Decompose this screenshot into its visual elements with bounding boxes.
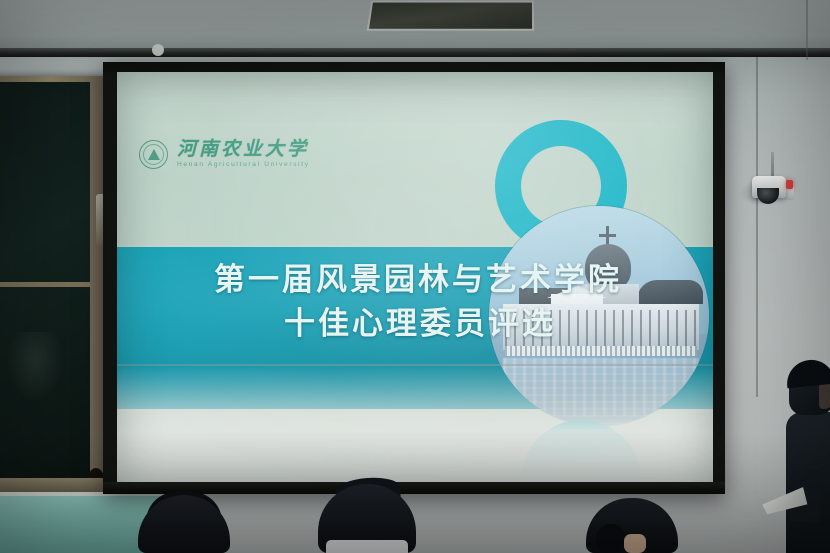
audience-center-collar — [326, 540, 408, 553]
screen-bezel-top — [103, 62, 725, 72]
photo-ripples — [489, 366, 709, 426]
wall-seam-upper — [806, 0, 808, 60]
emblem-triangle-icon — [148, 149, 160, 160]
campus-photo-circle — [489, 206, 709, 426]
standing-person-face — [819, 382, 830, 409]
chalk-residue — [6, 332, 64, 402]
blackboard-surface — [0, 82, 90, 486]
projected-slide: 河南农业大学 Henan Agricultural University 第一届… — [117, 72, 713, 484]
photo-spire-cross — [599, 234, 616, 237]
audience-right-hand — [624, 534, 646, 553]
blackboard — [0, 76, 110, 496]
photo-balustrade — [505, 346, 697, 356]
camera-led-indicator — [786, 180, 793, 189]
classroom-photo-scene: 河南农业大学 Henan Agricultural University 第一届… — [0, 0, 830, 553]
university-name-en: Henan Agricultural University — [177, 162, 310, 169]
ceiling-light-panel — [367, 1, 534, 31]
slide-canvas: 河南农业大学 Henan Agricultural University 第一届… — [117, 72, 713, 484]
university-emblem-icon — [139, 140, 168, 169]
blackboard-divider — [0, 282, 90, 287]
ceiling-hook — [152, 44, 164, 56]
photo-right-roof — [637, 280, 703, 304]
university-logo: 河南农业大学 Henan Agricultural University — [139, 140, 310, 169]
photo-columns — [505, 310, 697, 348]
university-name-cn: 河南农业大学 — [177, 140, 310, 159]
ceiling-edge-strip — [0, 48, 830, 57]
university-logo-text: 河南农业大学 Henan Agricultural University — [177, 140, 310, 169]
wall-seam — [756, 57, 758, 397]
slide-footer-text: 风景园林与艺术学院 — [117, 450, 713, 470]
audience-right-ponytail — [596, 524, 626, 553]
projection-screen: 河南农业大学 Henan Agricultural University 第一届… — [103, 62, 725, 494]
